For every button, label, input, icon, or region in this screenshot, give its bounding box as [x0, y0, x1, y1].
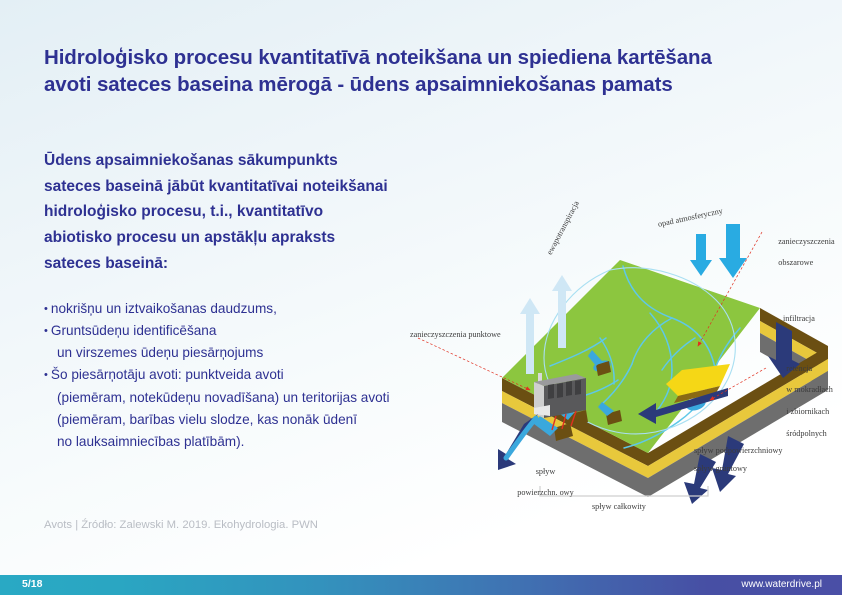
label-retention: retencja w mokradłach i zbiornikach śród…: [774, 353, 833, 450]
label-surface-runoff: spływ powierzchn. owy: [505, 456, 574, 510]
label-subsurface-runoff: spływ podpowierzchniowy: [694, 446, 782, 457]
lead-line: sateces baseinā jābūt kvantitatīvai note…: [44, 174, 484, 200]
label-area-pollution: zanieczyszczenia obszarowe: [766, 226, 835, 280]
label-retention-line2: w mokradłach: [786, 385, 833, 394]
label-point-pollution: zanieczyszczenia punktowe: [410, 330, 501, 341]
label-area-pollution-line2: obszarowe: [778, 258, 813, 267]
footer-bar: 5/18 www.waterdrive.pl: [0, 575, 842, 595]
label-area-pollution-line1: zanieczyszczenia: [778, 237, 834, 246]
page-title: Hidroloģisko procesu kvantitatīvā noteik…: [44, 44, 774, 99]
label-retention-line3: i zbiornikach: [786, 407, 829, 416]
label-total-runoff: spływ całkowity: [592, 502, 646, 513]
label-surface-runoff-line1: spływ: [536, 467, 556, 476]
factory-icon: [534, 373, 586, 418]
title-line-1: Hidroloģisko procesu kvantitatīvā noteik…: [44, 46, 712, 69]
precipitation-arrows: [690, 224, 747, 278]
hydrology-block-diagram: opad atmosferyczny ewapotranspiracja zan…: [410, 218, 842, 528]
label-retention-line1: retencja: [786, 364, 812, 373]
lead-line: Ūdens apsaimniekošanas sākumpunkts: [44, 148, 484, 174]
page-number: 5/18: [22, 578, 42, 590]
label-surface-runoff-line2: powierzchn. owy: [517, 488, 573, 497]
label-groundwater-runoff: spływ gruntowy: [694, 464, 747, 475]
label-infiltration: infiltracja: [783, 314, 815, 325]
title-line-2: avoti sateces baseina mērogā - ūdens aps…: [44, 73, 673, 96]
footer-url[interactable]: www.waterdrive.pl: [741, 579, 822, 590]
source-attribution: Avots | Źródło: Zalewski M. 2019. Ekohyd…: [44, 519, 318, 531]
label-retention-line4: śródpolnych: [786, 429, 826, 438]
slide-canvas: Hidroloģisko procesu kvantitatīvā noteik…: [0, 0, 842, 595]
